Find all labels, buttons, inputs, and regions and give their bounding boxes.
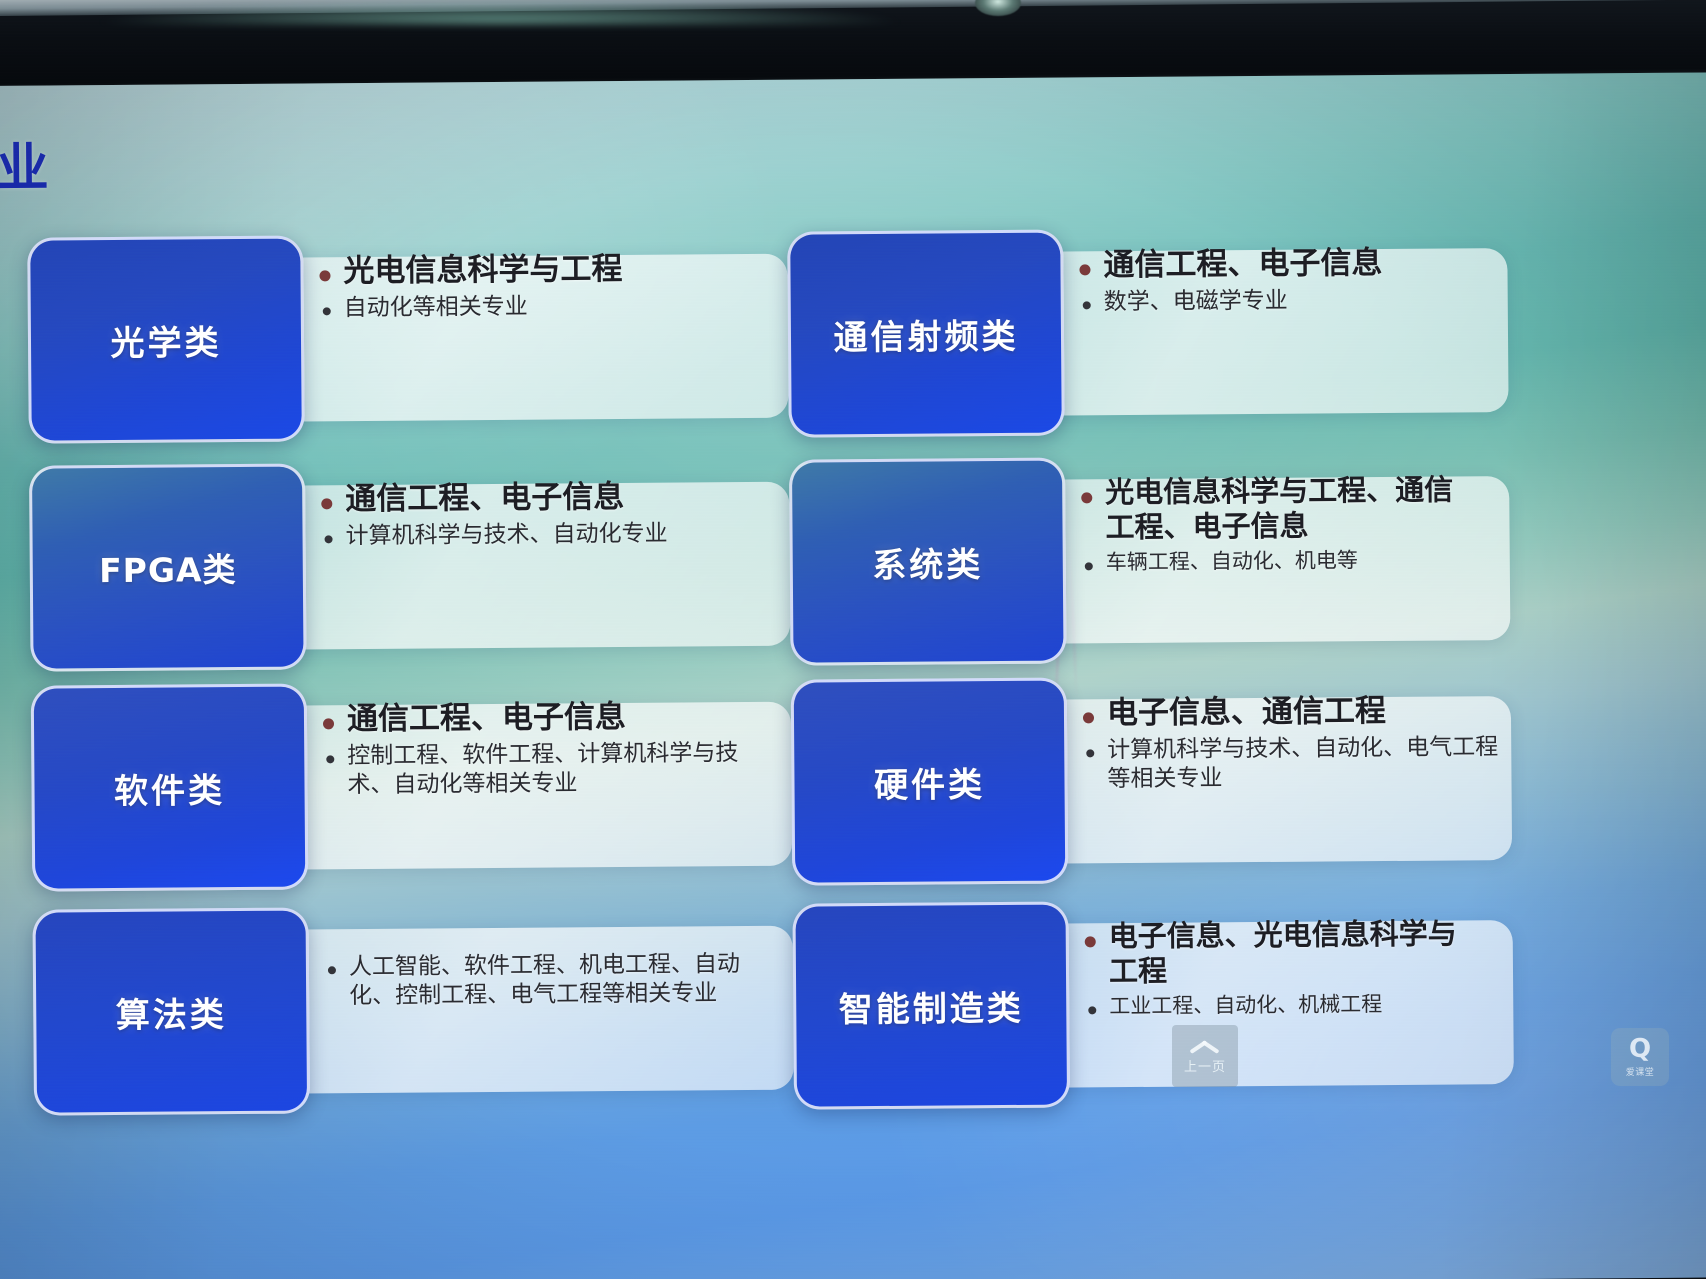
category-chip[interactable]: FPGA类	[29, 464, 307, 672]
card-row: 光学类 光电信息科学与工程 自动化等相关专业 通信射频类 通信工程、电子信息 数…	[27, 225, 1669, 456]
category-chip-label: 智能制造类	[833, 980, 1030, 1031]
prev-page-label: 上一页	[1184, 1056, 1226, 1075]
secondary-major-line-1: 人工智能、软件工程、机电工程、自动	[349, 951, 740, 980]
secondary-major-bullet: 工业工程、自动化、机械工程	[1083, 989, 1533, 1019]
app-watermark: Q 爱课堂	[1611, 1028, 1669, 1086]
category-chip-label: 通信射频类	[827, 308, 1024, 359]
primary-major-bullet: 通信工程、电子信息	[321, 698, 791, 739]
category-chip[interactable]: 光学类	[27, 236, 305, 444]
category-card-optics[interactable]: 光学类 光电信息科学与工程 自动化等相关专业	[27, 232, 789, 444]
category-chip-label: 算法类	[110, 987, 233, 1037]
secondary-major-bullet: 计算机科学与技术、自动化、电气工程 等相关专业	[1081, 733, 1531, 794]
card-row: 算法类 人工智能、软件工程、机电工程、自动 化、控制工程、电气工程等相关专业 智…	[32, 897, 1674, 1128]
secondary-major-line-2: 等相关专业	[1107, 765, 1222, 792]
prev-page-button[interactable]: 上一页	[1172, 1025, 1238, 1087]
page-title: 专业	[0, 125, 51, 201]
category-card-smart-manufacturing[interactable]: 智能制造类 电子信息、光电信息科学与 工程 工业工程、自动化、机械工程	[792, 898, 1514, 1110]
projector-photo: 专业 光学类 光电信息科学与工程 自动化等相关专业	[0, 0, 1706, 1279]
secondary-major-bullet: 控制工程、软件工程、计算机科学与技 术、自动化等相关专业	[321, 739, 791, 800]
secondary-major-line-2: 化、控制工程、电气工程等相关专业	[349, 980, 717, 1009]
category-chip[interactable]: 硬件类	[791, 678, 1069, 886]
category-card-algorithm[interactable]: 算法类 人工智能、软件工程、机电工程、自动 化、控制工程、电气工程等相关专业	[32, 904, 794, 1116]
category-card-grid: 光学类 光电信息科学与工程 自动化等相关专业 通信射频类 通信工程、电子信息 数…	[27, 225, 1675, 1248]
category-card-hardware[interactable]: 硬件类 电子信息、通信工程 计算机科学与技术、自动化、电气工程 等相关专业	[791, 674, 1513, 886]
primary-major-line-1: 电子信息、光电信息科学与	[1109, 916, 1457, 953]
card-text: 通信工程、电子信息 控制工程、软件工程、计算机科学与技 术、自动化等相关专业	[321, 698, 792, 800]
primary-major-bullet: 电子信息、光电信息科学与 工程	[1083, 916, 1534, 989]
card-text: 人工智能、软件工程、机电工程、自动 化、控制工程、电气工程等相关专业	[323, 950, 793, 1011]
category-card-system[interactable]: 系统类 光电信息科学与工程、通信 工程、电子信息 车辆工程、自动化、机电等	[789, 454, 1511, 666]
category-chip[interactable]: 智能制造类	[792, 902, 1070, 1110]
category-chip-label: 光学类	[104, 315, 227, 365]
card-text: 光电信息科学与工程 自动化等相关专业	[317, 250, 788, 323]
primary-major-bullet: 通信工程、电子信息	[1077, 244, 1527, 285]
primary-major-line-2: 工程	[1109, 954, 1167, 988]
primary-major-line-1: 光电信息科学与工程、通信	[1105, 472, 1453, 509]
category-chip-label: 硬件类	[868, 757, 991, 807]
category-chip-label: 软件类	[108, 763, 231, 813]
projector-glow	[90, 0, 910, 24]
category-card-software[interactable]: 软件类 通信工程、电子信息 控制工程、软件工程、计算机科学与技 术、自动化等相关…	[31, 680, 793, 892]
secondary-major-bullet: 车辆工程、自动化、机电等	[1080, 545, 1530, 575]
card-row: FPGA类 通信工程、电子信息 计算机科学与技术、自动化专业 系统类 光电信息科…	[29, 453, 1671, 684]
secondary-major-bullet: 计算机科学与技术、自动化专业	[319, 519, 789, 551]
card-text: 通信工程、电子信息 计算机科学与技术、自动化专业	[319, 478, 790, 551]
secondary-major-line-1: 计算机科学与技术、自动化、电气工程	[1107, 734, 1498, 763]
category-chip[interactable]: 算法类	[32, 907, 310, 1115]
chevron-up-icon	[1190, 1038, 1220, 1054]
category-chip-label: 系统类	[866, 537, 989, 587]
secondary-major-line-1: 控制工程、软件工程、计算机科学与技	[347, 740, 738, 769]
card-text: 通信工程、电子信息 数学、电磁学专业	[1077, 244, 1528, 317]
category-card-comm-rf[interactable]: 通信射频类 通信工程、电子信息 数学、电磁学专业	[787, 226, 1509, 438]
primary-major-bullet: 光电信息科学与工程、通信 工程、电子信息	[1079, 472, 1530, 545]
category-chip[interactable]: 通信射频类	[787, 230, 1065, 438]
secondary-major-bullet: 人工智能、软件工程、机电工程、自动 化、控制工程、电气工程等相关专业	[323, 950, 793, 1011]
watermark-label: 爱课堂	[1626, 1065, 1655, 1078]
secondary-major-line-2: 术、自动化等相关专业	[347, 770, 577, 798]
category-card-fpga[interactable]: FPGA类 通信工程、电子信息 计算机科学与技术、自动化专业	[29, 460, 791, 672]
secondary-major-bullet: 自动化等相关专业	[318, 291, 788, 323]
projection-screen: 专业 光学类 光电信息科学与工程 自动化等相关专业	[0, 72, 1706, 1279]
secondary-major-bullet: 数学、电磁学专业	[1078, 285, 1528, 317]
watermark-logo-icon: Q	[1629, 1036, 1651, 1062]
category-chip-label: FPGA类	[93, 543, 243, 592]
card-text: 电子信息、光电信息科学与 工程 工业工程、自动化、机械工程	[1083, 916, 1534, 1019]
primary-major-line-2: 工程、电子信息	[1105, 508, 1308, 544]
ceiling-fixture	[975, 0, 1021, 16]
card-text: 光电信息科学与工程、通信 工程、电子信息 车辆工程、自动化、机电等	[1079, 472, 1530, 575]
primary-major-bullet: 电子信息、通信工程	[1081, 692, 1531, 733]
card-row: 软件类 通信工程、电子信息 控制工程、软件工程、计算机科学与技 术、自动化等相关…	[31, 673, 1673, 904]
primary-major-bullet: 光电信息科学与工程	[317, 250, 787, 291]
card-text: 电子信息、通信工程 计算机科学与技术、自动化、电气工程 等相关专业	[1081, 692, 1532, 794]
primary-major-bullet: 通信工程、电子信息	[319, 478, 789, 519]
category-chip[interactable]: 软件类	[31, 683, 309, 891]
category-chip[interactable]: 系统类	[789, 458, 1067, 666]
